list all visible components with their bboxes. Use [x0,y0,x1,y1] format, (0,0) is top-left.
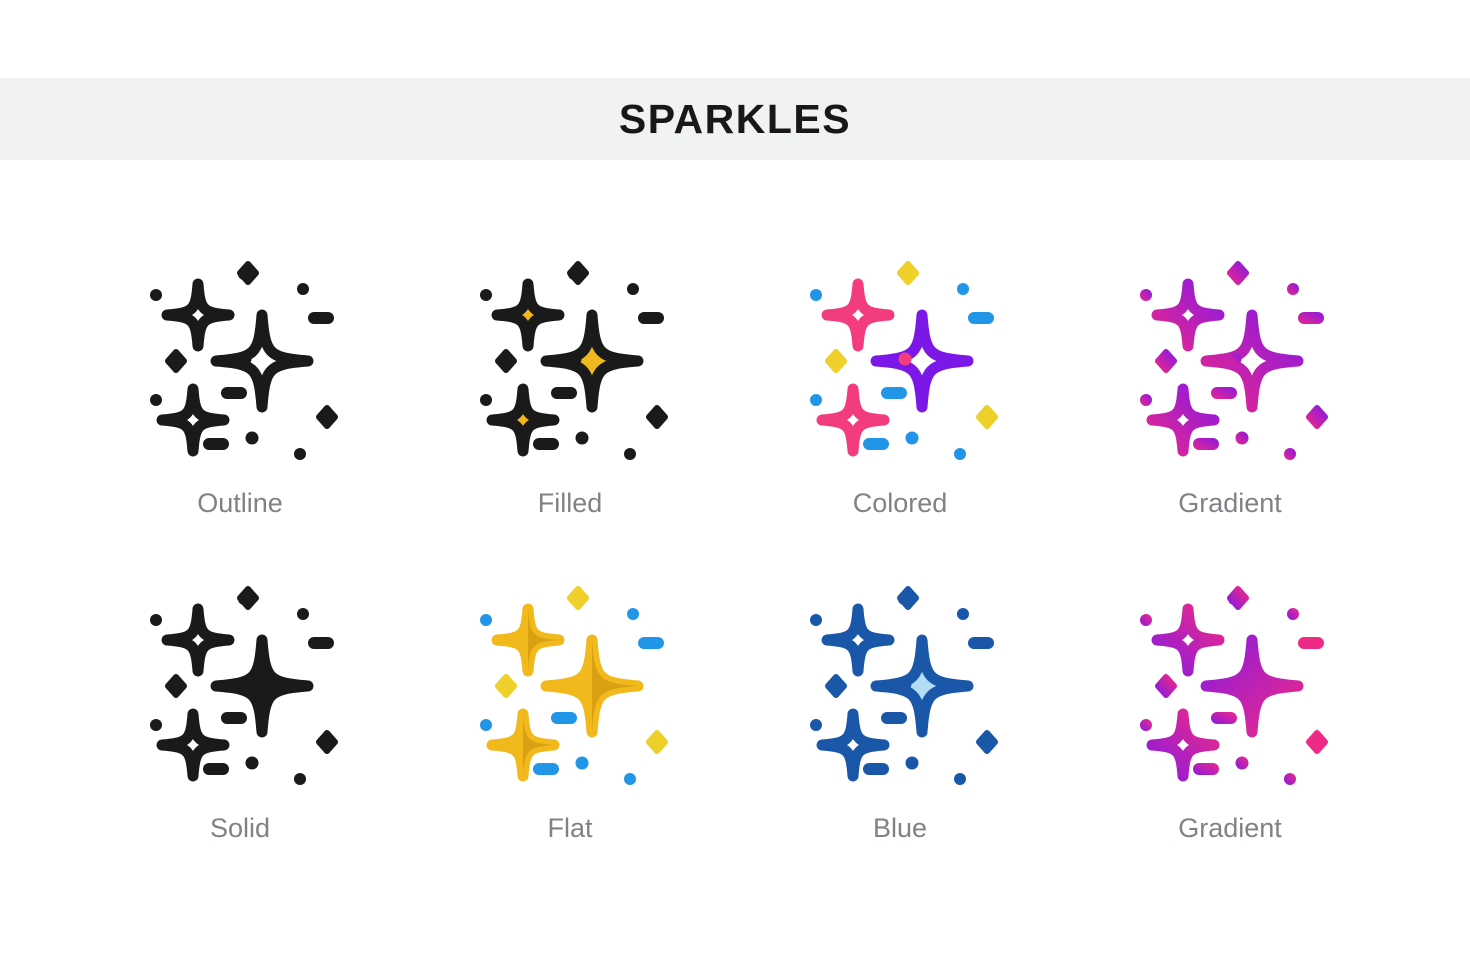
icon-label: Outline [197,490,283,517]
sparkles-icon [135,585,345,785]
sparkles-icon [135,260,345,460]
page-title: SPARKLES [619,99,851,140]
sparkles-icon-flat[interactable] [455,575,685,795]
icon-label: Flat [547,815,592,842]
sparkles-icon-blue[interactable] [785,575,1015,795]
sparkles-icon-outline[interactable] [125,250,355,470]
sparkles-icon-filled[interactable] [455,250,685,470]
icon-grid: Outline [75,250,1395,900]
sparkles-icon-colored[interactable] [785,250,1015,470]
sparkles-icon-gradient-solid[interactable] [1115,575,1345,795]
icon-label: Gradient [1178,490,1282,517]
sparkles-icon [465,260,675,460]
icon-style-sheet: SPARKLES [0,0,1470,980]
icon-card-flat[interactable]: Flat [405,575,735,900]
icon-label: Filled [538,490,603,517]
sparkles-icon [1125,585,1335,785]
sparkles-icon [795,260,1005,460]
icon-label: Solid [210,815,270,842]
icon-label: Colored [853,490,948,517]
icon-card-blue[interactable]: Blue [735,575,1065,900]
icon-card-outline[interactable]: Outline [75,250,405,575]
icon-card-solid[interactable]: Solid [75,575,405,900]
icon-card-gradient[interactable]: Gradient [1065,250,1395,575]
sparkles-icon [795,585,1005,785]
header-band: SPARKLES [0,78,1470,160]
icon-card-filled[interactable]: Filled [405,250,735,575]
sparkles-icon-gradient[interactable] [1115,250,1345,470]
icon-card-colored[interactable]: Colored [735,250,1065,575]
icon-label: Gradient [1178,815,1282,842]
sparkles-icon-solid[interactable] [125,575,355,795]
icon-card-gradient-solid[interactable]: Gradient [1065,575,1395,900]
sparkles-icon [1125,260,1335,460]
icon-label: Blue [873,815,927,842]
sparkles-icon [465,585,675,785]
